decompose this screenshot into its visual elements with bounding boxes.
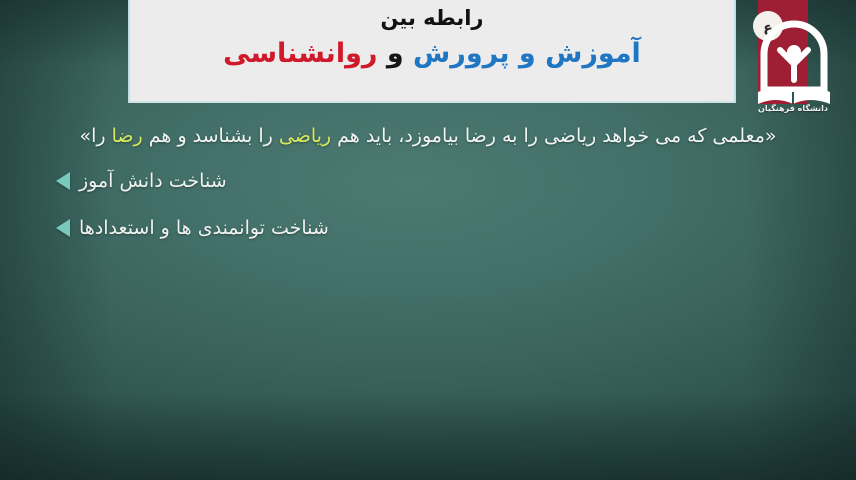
title-main-line: آموزش و پرورش و روانشناسی bbox=[223, 34, 641, 73]
presentation-slide: رابطه بین آموزش و پرورش و روانشناسی ع دا… bbox=[0, 0, 856, 480]
quote-segment-0: «معلمی که می خواهد ریاضی را به رضا بیامو… bbox=[331, 125, 776, 147]
quote-text: «معلمی که می خواهد ریاضی را به رضا بیامو… bbox=[56, 118, 800, 155]
title-subtitle-line: رابطه بین bbox=[380, 4, 483, 32]
bullet-list: شناخت دانش آموزشناخت توانمندی ها و استعد… bbox=[56, 167, 800, 242]
list-item: شناخت دانش آموز bbox=[56, 167, 800, 196]
quote-segment-2: را بشناسد و هم bbox=[143, 125, 279, 147]
title-term-psychology: روانشناسی bbox=[223, 38, 377, 69]
triangle-left-icon bbox=[56, 219, 70, 237]
quote-highlight-1: ریاضی bbox=[279, 125, 331, 147]
title-term-education: آموزش و پرورش bbox=[413, 38, 641, 69]
quote-segment-4: را» bbox=[79, 125, 111, 147]
title-banner: رابطه بین آموزش و پرورش و روانشناسی bbox=[128, 0, 736, 103]
bullet-label-1: شناخت توانمندی ها و استعدادها bbox=[79, 214, 329, 243]
title-conjunction: و bbox=[387, 38, 404, 69]
logo-caption: دانشگاه فرهنگیان bbox=[750, 104, 836, 113]
quote-highlight-3: رضا bbox=[112, 125, 143, 147]
list-item: شناخت توانمندی ها و استعدادها bbox=[56, 214, 800, 243]
bullet-label-0: شناخت دانش آموز bbox=[79, 167, 227, 196]
triangle-left-icon bbox=[56, 172, 70, 190]
university-logo: ع دانشگاه فرهنگیان bbox=[736, 0, 856, 128]
slide-content: «معلمی که می خواهد ریاضی را به رضا بیامو… bbox=[0, 118, 856, 260]
